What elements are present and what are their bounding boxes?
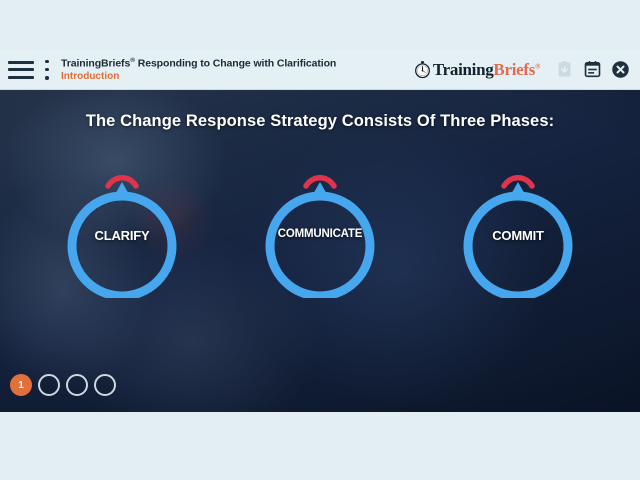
download-icon <box>555 60 574 79</box>
course-title: TrainingBriefs® Responding to Change wit… <box>61 57 413 70</box>
pagination-dot-1[interactable]: 1 <box>10 374 32 396</box>
player-window: TrainingBriefs® Responding to Change wit… <box>0 0 640 480</box>
logo-text-training: Training <box>433 60 494 79</box>
notes-icon[interactable] <box>583 60 602 79</box>
top-letterbox <box>0 0 640 50</box>
logo-wordmark: TrainingBriefs® <box>433 60 540 80</box>
more-options-icon[interactable] <box>42 60 52 80</box>
bottom-letterbox <box>0 412 640 480</box>
compass-badge-icon <box>256 152 384 298</box>
player-header: TrainingBriefs® Responding to Change wit… <box>0 50 640 90</box>
pagination-dot-2[interactable] <box>38 374 60 396</box>
header-actions: TrainingBriefs® <box>413 60 630 80</box>
kebab-dot <box>45 76 49 80</box>
course-title-brand: TrainingBriefs <box>61 57 130 69</box>
slide-pagination: 1 <box>10 374 116 396</box>
lesson-title: Introduction <box>61 71 413 83</box>
hamburger-line <box>8 61 34 64</box>
hamburger-line <box>8 68 34 71</box>
pagination-dot-3[interactable] <box>66 374 88 396</box>
logo-text-briefs: Briefs <box>493 60 535 79</box>
trainingbriefs-logo: TrainingBriefs® <box>413 60 540 80</box>
phase-item-commit[interactable]: COMMIT <box>454 152 582 298</box>
close-icon[interactable] <box>611 60 630 79</box>
phase-group: CLARIFY COMMUNICATE COMMIT <box>0 152 640 298</box>
logo-registered-mark: ® <box>535 62 540 70</box>
hamburger-menu-icon[interactable] <box>8 61 34 79</box>
compass-badge-icon <box>454 152 582 298</box>
course-title-rest: Responding to Change with Clarification <box>135 57 336 69</box>
kebab-dot <box>45 68 49 72</box>
compass-badge-icon <box>58 152 186 298</box>
header-titles: TrainingBriefs® Responding to Change wit… <box>61 57 413 82</box>
hamburger-line <box>8 76 34 79</box>
phase-item-communicate[interactable]: COMMUNICATE <box>256 152 384 298</box>
pagination-dot-4[interactable] <box>94 374 116 396</box>
slide-stage: The Change Response Strategy Consists Of… <box>0 90 640 412</box>
slide-heading: The Change Response Strategy Consists Of… <box>0 112 640 131</box>
stopwatch-icon <box>413 60 432 79</box>
phase-item-clarify[interactable]: CLARIFY <box>58 152 186 298</box>
kebab-dot <box>45 60 49 64</box>
